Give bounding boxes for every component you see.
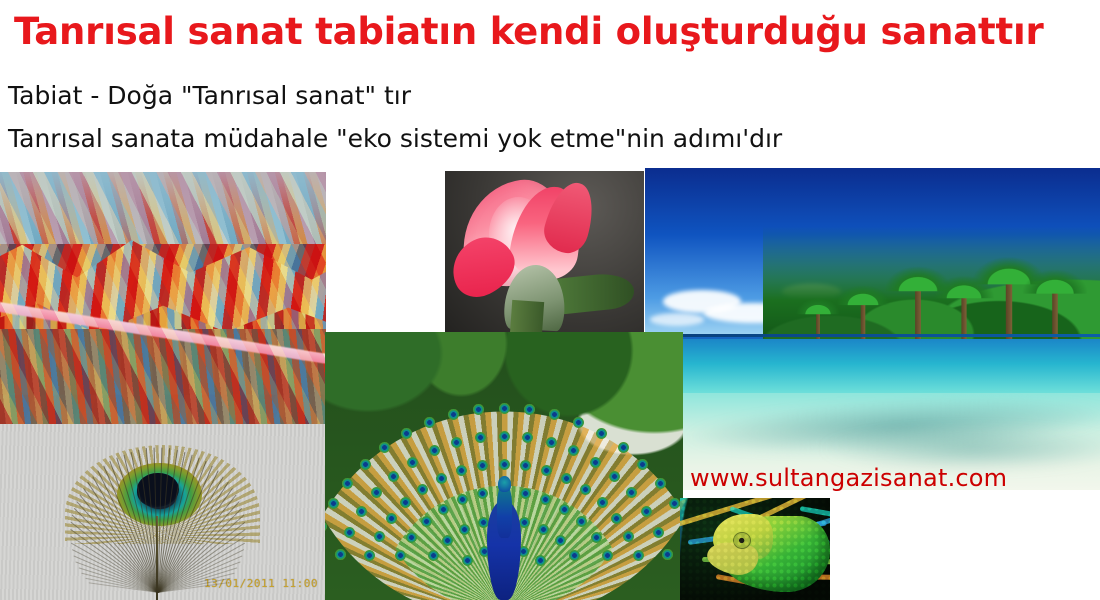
peacock-eyespot — [477, 488, 488, 499]
peacock-eyespot — [407, 457, 418, 468]
peacock-eyespot — [344, 527, 355, 538]
beach-horizon — [645, 334, 1100, 337]
peacock-eyespot — [524, 404, 535, 415]
photo-pink-rose[interactable] — [445, 171, 644, 333]
peacock-eyespot — [429, 445, 440, 456]
peacock-eyespot — [580, 484, 591, 495]
peacock-eyespot — [522, 432, 533, 443]
peacock-eyespot — [379, 442, 390, 453]
peacock-eyespot — [475, 432, 486, 443]
slide-subtitle-line-1: Tabiat - Doğa "Tanrısal sanat" tır — [8, 80, 411, 112]
peacock-eyespot — [561, 473, 572, 484]
peacock-eyespot — [499, 403, 510, 414]
peacock-eyespot — [328, 498, 339, 509]
photo-peacock-feather[interactable]: 13/01/2011 11:00 — [0, 424, 325, 600]
peacock-eyespot — [641, 506, 652, 517]
peacock-eyespot — [520, 488, 531, 499]
peacock-eyespot — [424, 417, 435, 428]
photo-tropical-beach[interactable] — [645, 168, 1100, 490]
photo-chameleon[interactable] — [680, 498, 830, 600]
peacock-eyespot — [633, 550, 644, 561]
chameleon-skin-speckles — [680, 498, 830, 600]
peacock-eyespot — [448, 409, 459, 420]
peacock-eyespot — [388, 471, 399, 482]
peacock-eyespot — [442, 535, 453, 546]
peacock-eyespot — [356, 506, 367, 517]
peacock-eyespot — [459, 524, 470, 535]
peacock-eyespot — [421, 516, 432, 527]
peacock-eyespot — [669, 498, 680, 509]
peacock-eyespot — [655, 478, 666, 489]
peacock-eyespot — [573, 417, 584, 428]
peacock-eyespot — [540, 494, 551, 505]
peacock-eyespot — [576, 516, 587, 527]
peacock-eyespot — [371, 487, 382, 498]
peacock-eyespot — [596, 428, 607, 439]
peacock-eyespot — [538, 524, 549, 535]
peacock-eyespot — [451, 437, 462, 448]
peacock-eyespot — [499, 459, 510, 470]
peacock-eyespot — [602, 550, 613, 561]
peacock-eyespot — [456, 465, 467, 476]
peacock-eyespot — [653, 527, 664, 538]
peacock-eyespot — [541, 465, 552, 476]
peacock-eyespot — [417, 484, 428, 495]
peacock-eyespot — [386, 513, 397, 524]
peacock-eyespot — [462, 555, 473, 566]
peacock-eyespot — [597, 497, 608, 508]
slide-title: Tanrısal sanat tabiatın kendi oluşturduğ… — [14, 8, 1094, 56]
peacock-eyespot — [477, 460, 488, 471]
slide-subtitle-line-2: Tanrısal sanata müdahale "eko sistemi yo… — [8, 123, 782, 155]
photo-peacock-display[interactable] — [325, 332, 683, 600]
peacock-eyespot — [438, 504, 449, 515]
mountain-stripes-overlay — [0, 172, 326, 425]
peacock-eyespot — [342, 478, 353, 489]
peacock-eyespot — [406, 532, 417, 543]
peacock-eyespot — [428, 550, 439, 561]
peacock-eyespot — [400, 497, 411, 508]
peacock-eyespot — [436, 473, 447, 484]
peacock-head — [498, 476, 511, 492]
rose-leaf — [553, 271, 636, 315]
peacock-eyespot — [535, 555, 546, 566]
peacock-eyespot — [499, 431, 510, 442]
photo-rainbow-mountains[interactable] — [0, 172, 326, 425]
peacock-eyespot — [360, 459, 371, 470]
peacock-eyespot — [457, 494, 468, 505]
peacock-eyespot — [325, 521, 327, 532]
peacock-eyespot — [611, 513, 622, 524]
peacock-eyespot — [591, 532, 602, 543]
peacock-eyespot — [568, 445, 579, 456]
peacock-eyespot — [520, 460, 531, 471]
peacock-eyespot — [623, 531, 634, 542]
watermark-url[interactable]: www.sultangazisanat.com — [690, 464, 1007, 492]
peacock-eyespot — [546, 437, 557, 448]
peacock-eyespot — [637, 459, 648, 470]
peacock-eyespot — [618, 442, 629, 453]
peacock-eyespot — [374, 531, 385, 542]
peacock-eyespot — [364, 550, 375, 561]
peacock-eyespot — [662, 549, 673, 560]
peacock-eyespot — [335, 549, 346, 560]
peacock-eyespot — [559, 504, 570, 515]
peacock-eyespot — [569, 550, 580, 561]
slide-canvas: 13/01/2011 11:00 Tanrısal sanat tabiatın… — [0, 0, 1100, 600]
peacock-neck — [497, 484, 512, 538]
peacock-eyespot — [590, 457, 601, 468]
peacock-eyespot — [609, 471, 620, 482]
peacock-eyespot — [473, 404, 484, 415]
peacock-eyespot — [626, 487, 637, 498]
cloud — [650, 313, 705, 326]
peacock-eyespot — [555, 535, 566, 546]
watermark-band: www.sultangazisanat.com — [690, 462, 1050, 494]
rose-stem — [509, 300, 543, 333]
peacock-eyespot — [395, 550, 406, 561]
peacock-eyespot — [549, 409, 560, 420]
peacock-eyespot — [401, 428, 412, 439]
